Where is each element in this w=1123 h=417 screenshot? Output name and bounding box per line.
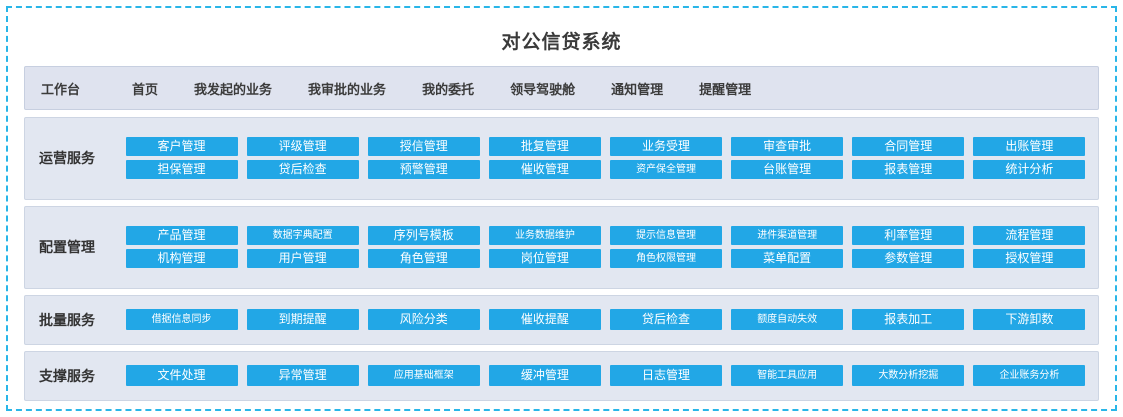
module-button[interactable]: 贷后检查	[610, 309, 722, 330]
module-button[interactable]: 角色权限管理	[610, 249, 722, 268]
module-button[interactable]: 利率管理	[852, 226, 964, 245]
section-label: 支撑服务	[35, 366, 121, 386]
module-button[interactable]: 评级管理	[247, 137, 359, 156]
module-button[interactable]: 资产保全管理	[610, 160, 722, 179]
module-button[interactable]: 企业账务分析	[973, 365, 1085, 386]
module-button[interactable]: 批复管理	[489, 137, 601, 156]
section-button-grid: 文件处理异常管理应用基础框架缓冲管理日志管理智能工具应用大数分析挖掘企业账务分析	[121, 365, 1090, 386]
button-slot: 到期提醒	[242, 309, 363, 330]
nav-item-6[interactable]: 通知管理	[611, 79, 663, 98]
module-button[interactable]: 预警管理	[368, 160, 480, 179]
button-slot: 审查审批	[727, 137, 848, 156]
button-slot: 台账管理	[727, 160, 848, 179]
button-row: 借据信息同步到期提醒风险分类催收提醒贷后检查额度自动失效报表加工下游卸数	[121, 309, 1090, 330]
module-button[interactable]: 统计分析	[973, 160, 1085, 179]
button-slot: 贷后检查	[606, 309, 727, 330]
button-slot: 流程管理	[969, 226, 1090, 245]
button-row: 担保管理贷后检查预警管理催收管理资产保全管理台账管理报表管理统计分析	[121, 160, 1090, 179]
button-slot: 预警管理	[363, 160, 484, 179]
module-sections: 运营服务客户管理评级管理授信管理批复管理业务受理审查审批合同管理出账管理担保管理…	[24, 117, 1099, 403]
module-button[interactable]: 角色管理	[368, 249, 480, 268]
module-button[interactable]: 进件渠道管理	[731, 226, 843, 245]
module-button[interactable]: 审查审批	[731, 137, 843, 156]
button-slot: 催收管理	[484, 160, 605, 179]
section-label: 运营服务	[35, 148, 121, 168]
section-label: 配置管理	[35, 237, 121, 257]
module-button[interactable]: 出账管理	[973, 137, 1085, 156]
button-slot: 报表管理	[848, 160, 969, 179]
section-0: 运营服务客户管理评级管理授信管理批复管理业务受理审查审批合同管理出账管理担保管理…	[24, 117, 1099, 200]
module-button[interactable]: 合同管理	[852, 137, 964, 156]
nav-item-0[interactable]: 工作台	[41, 79, 80, 98]
module-button[interactable]: 日志管理	[610, 365, 722, 386]
module-button[interactable]: 到期提醒	[247, 309, 359, 330]
section-label: 批量服务	[35, 310, 121, 330]
module-button[interactable]: 台账管理	[731, 160, 843, 179]
button-slot: 借据信息同步	[121, 309, 242, 330]
module-button[interactable]: 异常管理	[247, 365, 359, 386]
button-slot: 担保管理	[121, 160, 242, 179]
nav-item-1[interactable]: 首页	[132, 79, 158, 98]
button-slot: 风险分类	[363, 309, 484, 330]
button-slot: 下游卸数	[969, 309, 1090, 330]
button-slot: 菜单配置	[727, 249, 848, 268]
module-button[interactable]: 催收管理	[489, 160, 601, 179]
module-button[interactable]: 机构管理	[126, 249, 238, 268]
nav-item-4[interactable]: 我的委托	[422, 79, 474, 98]
section-3: 支撑服务文件处理异常管理应用基础框架缓冲管理日志管理智能工具应用大数分析挖掘企业…	[24, 351, 1099, 401]
button-slot: 异常管理	[242, 365, 363, 386]
module-button[interactable]: 风险分类	[368, 309, 480, 330]
module-button[interactable]: 菜单配置	[731, 249, 843, 268]
module-button[interactable]: 业务数据维护	[489, 226, 601, 245]
module-button[interactable]: 数据字典配置	[247, 226, 359, 245]
module-button[interactable]: 岗位管理	[489, 249, 601, 268]
module-button[interactable]: 用户管理	[247, 249, 359, 268]
module-button[interactable]: 缓冲管理	[489, 365, 601, 386]
button-slot: 授信管理	[363, 137, 484, 156]
button-slot: 机构管理	[121, 249, 242, 268]
button-slot: 催收提醒	[484, 309, 605, 330]
section-2: 批量服务借据信息同步到期提醒风险分类催收提醒贷后检查额度自动失效报表加工下游卸数	[24, 295, 1099, 345]
button-slot: 岗位管理	[484, 249, 605, 268]
nav-item-2[interactable]: 我发起的业务	[194, 79, 272, 98]
button-slot: 额度自动失效	[727, 309, 848, 330]
button-slot: 业务数据维护	[484, 226, 605, 245]
button-slot: 评级管理	[242, 137, 363, 156]
button-slot: 缓冲管理	[484, 365, 605, 386]
button-slot: 出账管理	[969, 137, 1090, 156]
module-button[interactable]: 贷后检查	[247, 160, 359, 179]
button-slot: 序列号模板	[363, 226, 484, 245]
button-slot: 批复管理	[484, 137, 605, 156]
button-slot: 文件处理	[121, 365, 242, 386]
button-slot: 参数管理	[848, 249, 969, 268]
button-slot: 产品管理	[121, 226, 242, 245]
module-button[interactable]: 授信管理	[368, 137, 480, 156]
button-slot: 企业账务分析	[969, 365, 1090, 386]
button-slot: 业务受理	[606, 137, 727, 156]
section-1: 配置管理产品管理数据字典配置序列号模板业务数据维护提示信息管理进件渠道管理利率管…	[24, 206, 1099, 289]
module-button[interactable]: 下游卸数	[973, 309, 1085, 330]
module-button[interactable]: 序列号模板	[368, 226, 480, 245]
app-window: 对公信贷系统 工作台首页我发起的业务我审批的业务我的委托领导驾驶舱通知管理提醒管…	[0, 0, 1123, 417]
button-slot: 利率管理	[848, 226, 969, 245]
module-button[interactable]: 额度自动失效	[731, 309, 843, 330]
module-button[interactable]: 产品管理	[126, 226, 238, 245]
button-slot: 智能工具应用	[727, 365, 848, 386]
button-slot: 授权管理	[969, 249, 1090, 268]
button-row: 文件处理异常管理应用基础框架缓冲管理日志管理智能工具应用大数分析挖掘企业账务分析	[121, 365, 1090, 386]
nav-item-7[interactable]: 提醒管理	[699, 79, 751, 98]
button-row: 机构管理用户管理角色管理岗位管理角色权限管理菜单配置参数管理授权管理	[121, 249, 1090, 268]
module-button[interactable]: 流程管理	[973, 226, 1085, 245]
button-slot: 报表加工	[848, 309, 969, 330]
module-button[interactable]: 提示信息管理	[610, 226, 722, 245]
button-slot: 贷后检查	[242, 160, 363, 179]
module-button[interactable]: 担保管理	[126, 160, 238, 179]
module-button[interactable]: 报表管理	[852, 160, 964, 179]
button-slot: 提示信息管理	[606, 226, 727, 245]
button-slot: 日志管理	[606, 365, 727, 386]
button-slot: 进件渠道管理	[727, 226, 848, 245]
button-row: 客户管理评级管理授信管理批复管理业务受理审查审批合同管理出账管理	[121, 137, 1090, 156]
button-slot: 应用基础框架	[363, 365, 484, 386]
nav-item-5[interactable]: 领导驾驶舱	[510, 79, 575, 98]
section-button-grid: 产品管理数据字典配置序列号模板业务数据维护提示信息管理进件渠道管理利率管理流程管…	[121, 226, 1090, 268]
button-slot: 资产保全管理	[606, 160, 727, 179]
dashed-frame: 对公信贷系统 工作台首页我发起的业务我审批的业务我的委托领导驾驶舱通知管理提醒管…	[6, 6, 1117, 411]
title-bar: 对公信贷系统	[16, 14, 1107, 66]
section-button-grid: 借据信息同步到期提醒风险分类催收提醒贷后检查额度自动失效报表加工下游卸数	[121, 309, 1090, 330]
module-button[interactable]: 大数分析挖掘	[852, 365, 964, 386]
button-slot: 角色权限管理	[606, 249, 727, 268]
module-button[interactable]: 客户管理	[126, 137, 238, 156]
module-button[interactable]: 智能工具应用	[731, 365, 843, 386]
button-slot: 统计分析	[969, 160, 1090, 179]
section-button-grid: 客户管理评级管理授信管理批复管理业务受理审查审批合同管理出账管理担保管理贷后检查…	[121, 137, 1090, 179]
button-slot: 数据字典配置	[242, 226, 363, 245]
module-button[interactable]: 文件处理	[126, 365, 238, 386]
button-slot: 角色管理	[363, 249, 484, 268]
button-slot: 客户管理	[121, 137, 242, 156]
nav-item-3[interactable]: 我审批的业务	[308, 79, 386, 98]
page-title: 对公信贷系统	[501, 27, 621, 54]
module-button[interactable]: 授权管理	[973, 249, 1085, 268]
module-button[interactable]: 报表加工	[852, 309, 964, 330]
button-slot: 合同管理	[848, 137, 969, 156]
module-button[interactable]: 借据信息同步	[126, 309, 238, 330]
button-slot: 大数分析挖掘	[848, 365, 969, 386]
module-button[interactable]: 应用基础框架	[368, 365, 480, 386]
main-navigation[interactable]: 工作台首页我发起的业务我审批的业务我的委托领导驾驶舱通知管理提醒管理	[24, 66, 1099, 110]
module-button[interactable]: 业务受理	[610, 137, 722, 156]
module-button[interactable]: 催收提醒	[489, 309, 601, 330]
button-row: 产品管理数据字典配置序列号模板业务数据维护提示信息管理进件渠道管理利率管理流程管…	[121, 226, 1090, 245]
button-slot: 用户管理	[242, 249, 363, 268]
module-button[interactable]: 参数管理	[852, 249, 964, 268]
